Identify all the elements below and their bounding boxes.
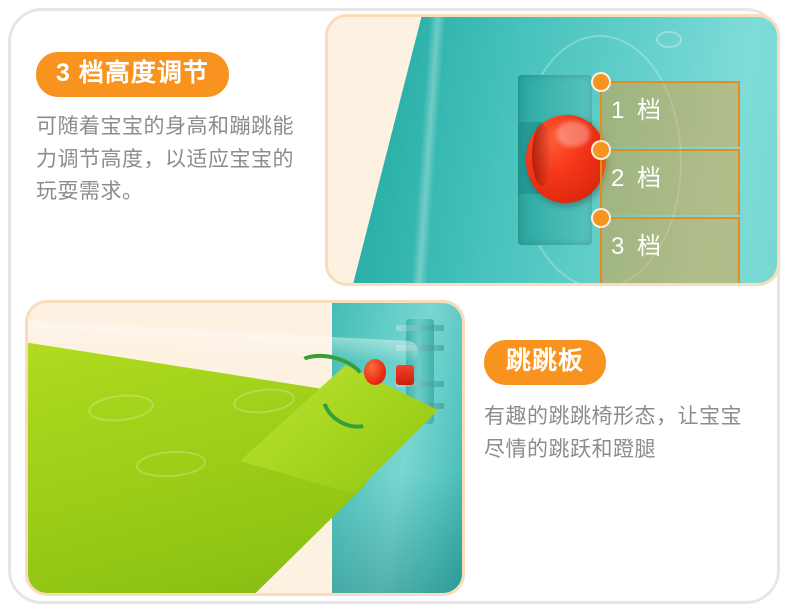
section-bouncing-board-body-line-1: 有趣的跳跳椅形态，让宝宝 — [484, 401, 774, 434]
photo-panel-bouncing-board — [25, 300, 465, 596]
height-level-box-1: 1 档 — [600, 81, 740, 147]
product-feature-page: 3 档高度调节 可随着宝宝的身高和蹦跳能力调节高度，以适应宝宝的玩耍需求。 1 … — [0, 0, 790, 614]
section-height-adjustment-text: 3 档高度调节 可随着宝宝的身高和蹦跳能力调节高度，以适应宝宝的玩耍需求。 — [36, 52, 306, 209]
height-level-label-3: 3 档 — [611, 233, 664, 260]
knob-highlight — [556, 121, 590, 147]
photo-panel-height-knob: 1 档 2 档 3 档 — [325, 14, 780, 286]
section-bouncing-board-badge: 跳跳板 — [484, 340, 606, 385]
section-height-adjustment-body: 可随着宝宝的身高和蹦跳能力调节高度，以适应宝宝的玩耍需求。 — [36, 111, 306, 209]
cord-clip-red — [396, 365, 414, 385]
section-bouncing-board-text: 跳跳板 有趣的跳跳椅形态，让宝宝 尽情的跳跃和蹬腿 — [484, 340, 774, 466]
level-marker-dot-icon — [593, 74, 609, 90]
board-photo-scene — [28, 303, 462, 593]
cord-grommet-red — [364, 359, 386, 385]
level-marker-dot-icon — [593, 210, 609, 226]
section-bouncing-board-body: 有趣的跳跳椅形态，让宝宝 尽情的跳跃和蹬腿 — [484, 401, 774, 466]
height-level-label-2: 2 档 — [611, 165, 664, 192]
section-bouncing-board-body-line-2: 尽情的跳跃和蹬腿 — [484, 434, 774, 467]
product-screw-detail — [656, 31, 682, 48]
height-level-box-3: 3 档 — [600, 217, 740, 286]
level-marker-dot-icon — [593, 142, 609, 158]
height-level-label-1: 1 档 — [611, 97, 664, 124]
section-height-adjustment-badge: 3 档高度调节 — [36, 52, 229, 97]
post-rib — [396, 325, 444, 331]
height-level-callouts: 1 档 2 档 3 档 — [600, 81, 740, 286]
height-level-box-2: 2 档 — [600, 149, 740, 215]
